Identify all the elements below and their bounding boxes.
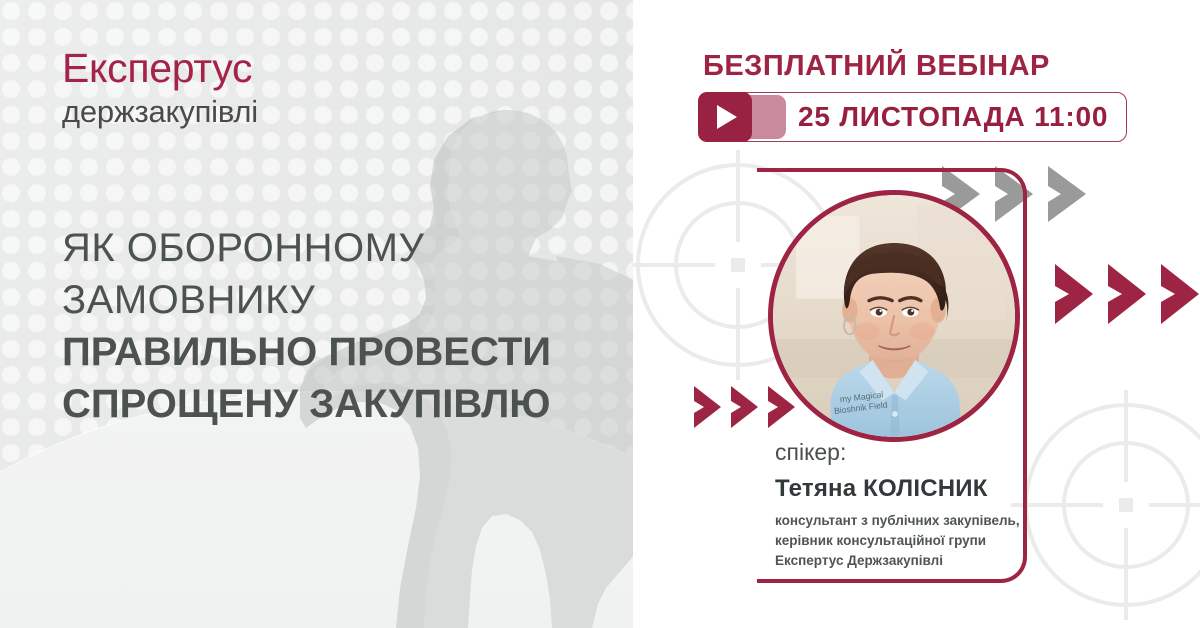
speaker-portrait: my Magical Bioshnik Field [773, 195, 1015, 437]
logo-main-text: Експертус [62, 48, 258, 89]
speaker-label: спікер: [775, 440, 1025, 465]
speaker-role-line-3: Експертус Держзакупівлі [775, 552, 1025, 570]
chevron-right-icon [728, 386, 758, 428]
chevron-right-icon [1157, 264, 1199, 324]
speaker-role: консультант з публічних закупівель, кері… [775, 512, 1025, 570]
speaker-role-line-1: консультант з публічних закупівель, [775, 512, 1025, 530]
webinar-promo-banner: Експертус держзакупівлі ЯК ОБОРОННОМУ ЗА… [0, 0, 1200, 628]
chevron-right-icon [1051, 264, 1093, 324]
date-time-badge[interactable]: 25 ЛИСТОПАДА 11:00 [698, 92, 1127, 142]
brand-logo[interactable]: Експертус держзакупівлі [62, 48, 258, 127]
right-panel: БЕЗПЛАТНИЙ ВЕБІНАР 25 ЛИСТОПАДА 11:00 [633, 0, 1200, 628]
speaker-name: Тетяна КОЛІСНИК [775, 476, 1025, 502]
headline-line-4: СПРОЩЕНУ ЗАКУПІВЛЮ [62, 378, 622, 430]
avatar: my Magical Bioshnik Field [768, 190, 1020, 442]
left-panel: Експертус держзакупівлі ЯК ОБОРОННОМУ ЗА… [0, 0, 633, 628]
date-time-text: 25 ЛИСТОПАДА 11:00 [798, 92, 1108, 142]
speaker-role-line-2: керівник консультаційної групи [775, 532, 1025, 550]
free-webinar-label: БЕЗПЛАТНИЙ ВЕБІНАР [703, 50, 1050, 83]
chevron-right-icon [691, 386, 721, 428]
crosshair-target-icon [1011, 390, 1200, 620]
chevron-right-triple-red-icon [1051, 264, 1199, 324]
chevron-right-icon [1104, 264, 1146, 324]
page-title: ЯК ОБОРОННОМУ ЗАМОВНИКУ ПРАВИЛЬНО ПРОВЕС… [62, 222, 622, 430]
logo-sub-text: держзакупівлі [62, 96, 258, 127]
speaker-info: спікер: Тетяна КОЛІСНИК консультант з пу… [775, 440, 1025, 570]
headline-line-2: ЗАМОВНИКУ [62, 274, 622, 326]
chevron-right-icon [1044, 166, 1086, 222]
play-button[interactable] [698, 92, 752, 142]
play-icon [717, 105, 737, 129]
headline-line-3: ПРАВИЛЬНО ПРОВЕСТИ [62, 326, 622, 378]
headline-line-1: ЯК ОБОРОННОМУ [62, 222, 622, 274]
